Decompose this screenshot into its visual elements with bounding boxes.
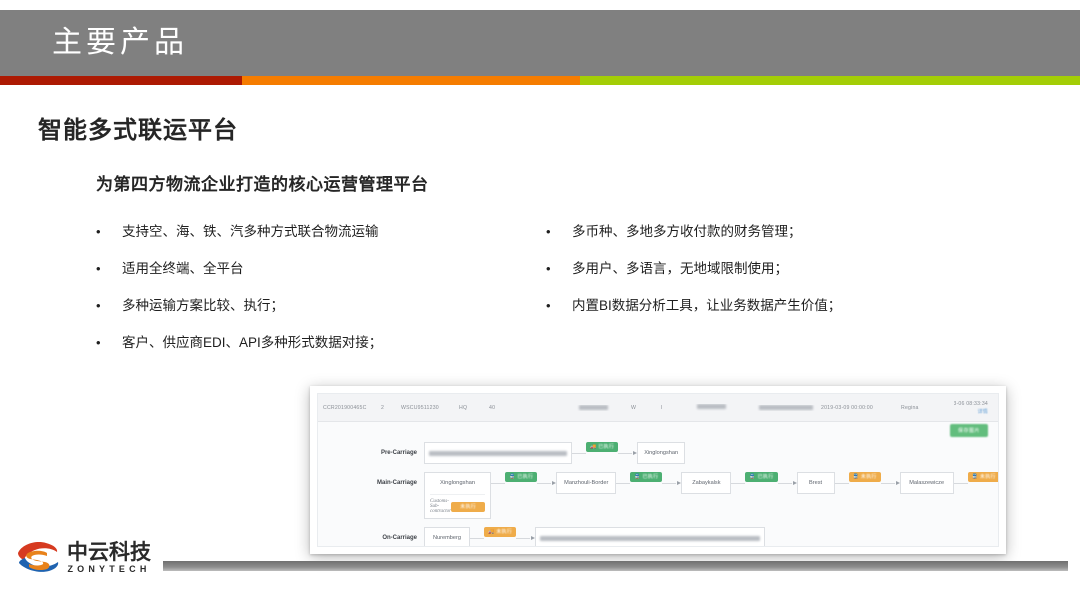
bullet-item: •客户、供应商EDI、API多种形式数据对接；: [92, 333, 522, 370]
leg-status-chip[interactable]: 🚆已执行: [630, 472, 662, 482]
summary-cell: Ryde Kanga GmbH: [754, 405, 816, 411]
connector-arrow-icon: [618, 442, 637, 464]
accent-segment-green: [580, 76, 1080, 85]
connector-line: [954, 472, 968, 494]
leg-status-label: 已执行: [642, 474, 658, 480]
summary-cell: 2: [376, 405, 396, 411]
train-icon: 🚆: [749, 475, 755, 480]
bullet-item-label: 客户、供应商EDI、API多种形式数据对接；: [122, 333, 522, 353]
leg-status-chip[interactable]: 🚆未执行: [968, 472, 999, 482]
summary-cell: 国际物流有限公司: [692, 404, 754, 411]
redacted-value: 国际物流有限公司: [697, 404, 726, 409]
accent-segment-red: [0, 76, 242, 85]
bullet-item: •多种运输方案比较、执行；: [92, 296, 522, 333]
leg-status-chip[interactable]: 🚆已执行: [505, 472, 537, 482]
leg-status-label: 未执行: [980, 474, 996, 480]
customs-subcontractor-row: Customs-Sub-contractor未执行: [430, 494, 485, 514]
accent-segment-orange: [242, 76, 580, 85]
summary-cell: P-H-N-46: [574, 405, 626, 411]
footer-bar: [163, 561, 1068, 571]
bullet-item-label: 内置BI数据分析工具，让业务数据产生价值；: [572, 296, 1012, 316]
location-node[interactable]: Malaszewicze: [900, 472, 954, 494]
connector-line: [731, 472, 745, 494]
location-node[interactable]: Rupp Logistic GmbH, Rhmstrasse 1, 74221 …: [535, 527, 765, 547]
summary-cell: Regina: [896, 405, 954, 411]
connector-line: [470, 527, 484, 547]
connector-line: [835, 472, 849, 494]
bullet-item: •多用户、多语言，无地域限制使用；: [542, 259, 1012, 296]
leg-status-label: 未执行: [460, 504, 476, 510]
redacted-value: Ryde Kanga GmbH: [759, 405, 813, 410]
logo-name-cn: 中云科技: [67, 542, 151, 563]
embed-inner-panel: CCR201900465C2WSCU9511230HQ40P-H-N-46WI国…: [317, 393, 999, 547]
section-subtitle: 为第四方物流企业打造的核心运营管理平台: [96, 170, 429, 195]
location-node[interactable]: Manzhouli-Border: [556, 472, 616, 494]
train-icon: 🚆: [972, 475, 978, 480]
connector-arrow-icon: [537, 472, 556, 494]
customs-subcontractor-label: Customs-Sub-contractor: [430, 499, 451, 514]
leg-status-label: 未执行: [496, 529, 512, 535]
bullet-item: •多币种、多地多方收付款的财务管理；: [542, 222, 1012, 259]
bullet-marker-icon: •: [92, 296, 122, 316]
leg-status-chip[interactable]: 🚚已执行: [586, 442, 618, 452]
carriage-row-label: Main-Carriage: [346, 472, 424, 494]
location-node[interactable]: Nuremberg: [424, 527, 470, 547]
company-logo: 中云科技 ZONYTECH: [16, 540, 151, 576]
shipment-summary-row: CCR201900465C2WSCU9511230HQ40P-H-N-46WI国…: [318, 394, 998, 422]
bullet-item-label: 多种运输方案比较、执行；: [122, 296, 522, 316]
location-node[interactable]: Zabaykalsk: [681, 472, 731, 494]
redacted-value: P-H-N-46: [579, 405, 608, 410]
location-node[interactable]: Xinglongshan: [637, 442, 685, 464]
section-title: 智能多式联运平台: [38, 110, 238, 145]
bullet-item-label: 支持空、海、铁、汽多种方式联合物流运输: [122, 222, 522, 242]
truck-icon: 🚚: [488, 530, 494, 535]
embedded-app-screenshot: CCR201900465C2WSCU9511230HQ40P-H-N-46WI国…: [310, 386, 1006, 554]
logo-name-en: ZONYTECH: [67, 565, 151, 574]
connector-line: [616, 472, 630, 494]
created-timestamp: 2019-03-06 08:33:34: [954, 400, 988, 408]
page-title: 主要产品: [52, 22, 188, 64]
location-node[interactable]: 新疆乌鲁木齐国际陆港 — 满洲里站场 口: [424, 442, 572, 464]
bullet-item: •支持空、海、铁、汽多种方式联合物流运输: [92, 222, 522, 259]
logo-text: 中云科技 ZONYTECH: [67, 542, 151, 574]
leg-status-chip[interactable]: 🚚未执行: [484, 527, 516, 537]
train-icon: 🚆: [853, 475, 859, 480]
leg-status-label: 已执行: [598, 444, 614, 450]
bullet-list-right: •多币种、多地多方收付款的财务管理；•多用户、多语言，无地域限制使用；•内置BI…: [542, 222, 1012, 333]
carriage-timeline: Pre-Carriage新疆乌鲁木齐国际陆港 — 满洲里站场 口🚚已执行Xing…: [318, 422, 998, 547]
bullet-marker-icon: •: [92, 259, 122, 279]
summary-cell: 40: [484, 405, 524, 411]
bullet-marker-icon: •: [92, 333, 122, 353]
detail-link[interactable]: 详情: [978, 408, 988, 416]
connector-line: [491, 472, 505, 494]
redacted-value: 新疆乌鲁木齐国际陆港 — 满洲里站场 口: [429, 451, 567, 456]
connector-arrow-icon: [662, 472, 681, 494]
bullet-item-label: 多币种、多地多方收付款的财务管理；: [572, 222, 1012, 242]
bullet-marker-icon: •: [542, 259, 572, 279]
carriage-row: Main-CarriageXinglongshanCustoms-Sub-con…: [318, 472, 998, 519]
redacted-value: Rupp Logistic GmbH, Rhmstrasse 1, 74221 …: [540, 536, 760, 541]
location-node[interactable]: Brest: [797, 472, 835, 494]
train-icon: 🚆: [509, 475, 515, 480]
bullet-list-left: •支持空、海、铁、汽多种方式联合物流运输•适用全终端、全平台•多种运输方案比较、…: [92, 222, 522, 370]
summary-cell: I: [656, 405, 692, 411]
bullet-marker-icon: •: [542, 222, 572, 242]
bullet-item-label: 多用户、多语言，无地域限制使用；: [572, 259, 1012, 279]
connector-line: [572, 442, 586, 464]
leg-status-label: 已执行: [517, 474, 533, 480]
summary-cell: HQ: [454, 405, 484, 411]
summary-cell: CCR201900465C: [318, 405, 376, 411]
connector-arrow-icon: [516, 527, 535, 547]
leg-status-chip[interactable]: 🚆已执行: [745, 472, 777, 482]
leg-status-chip[interactable]: 🚆未执行: [849, 472, 881, 482]
bullet-marker-icon: •: [542, 296, 572, 316]
bullet-item: •适用全终端、全平台: [92, 259, 522, 296]
carriage-row: On-CarriageNuremberg🚚未执行Rupp Logistic Gm…: [318, 527, 998, 547]
bullet-item-label: 适用全终端、全平台: [122, 259, 522, 279]
truck-icon: 🚚: [590, 445, 596, 450]
summary-cell: 2019-03-09 00:00:00: [816, 405, 896, 411]
bullet-marker-icon: •: [92, 222, 122, 242]
summary-cell: WSCU9511230: [396, 405, 454, 411]
connector-arrow-icon: [778, 472, 797, 494]
leg-status-label: 已执行: [758, 474, 774, 480]
connector-arrow-icon: [881, 472, 900, 494]
carriage-row-label: On-Carriage: [346, 527, 424, 547]
location-node: Xinglongshan: [430, 477, 485, 494]
summary-cell: W: [626, 405, 656, 411]
main-carriage-node-group[interactable]: XinglongshanCustoms-Sub-contractor未执行: [424, 472, 491, 519]
leg-status-label: 未执行: [861, 474, 877, 480]
carriage-row-label: Pre-Carriage: [346, 442, 424, 464]
bullet-item: •内置BI数据分析工具，让业务数据产生价值；: [542, 296, 1012, 333]
carriage-row: Pre-Carriage新疆乌鲁木齐国际陆港 — 满洲里站场 口🚚已执行Xing…: [318, 442, 998, 464]
accent-bar: [0, 76, 1080, 85]
summary-timestamp-cell: 2019-03-06 08:33:34详情: [954, 400, 998, 416]
leg-status-chip[interactable]: 未执行: [451, 502, 485, 512]
zonytech-logo-icon: [16, 540, 60, 576]
train-icon: 🚆: [634, 475, 640, 480]
